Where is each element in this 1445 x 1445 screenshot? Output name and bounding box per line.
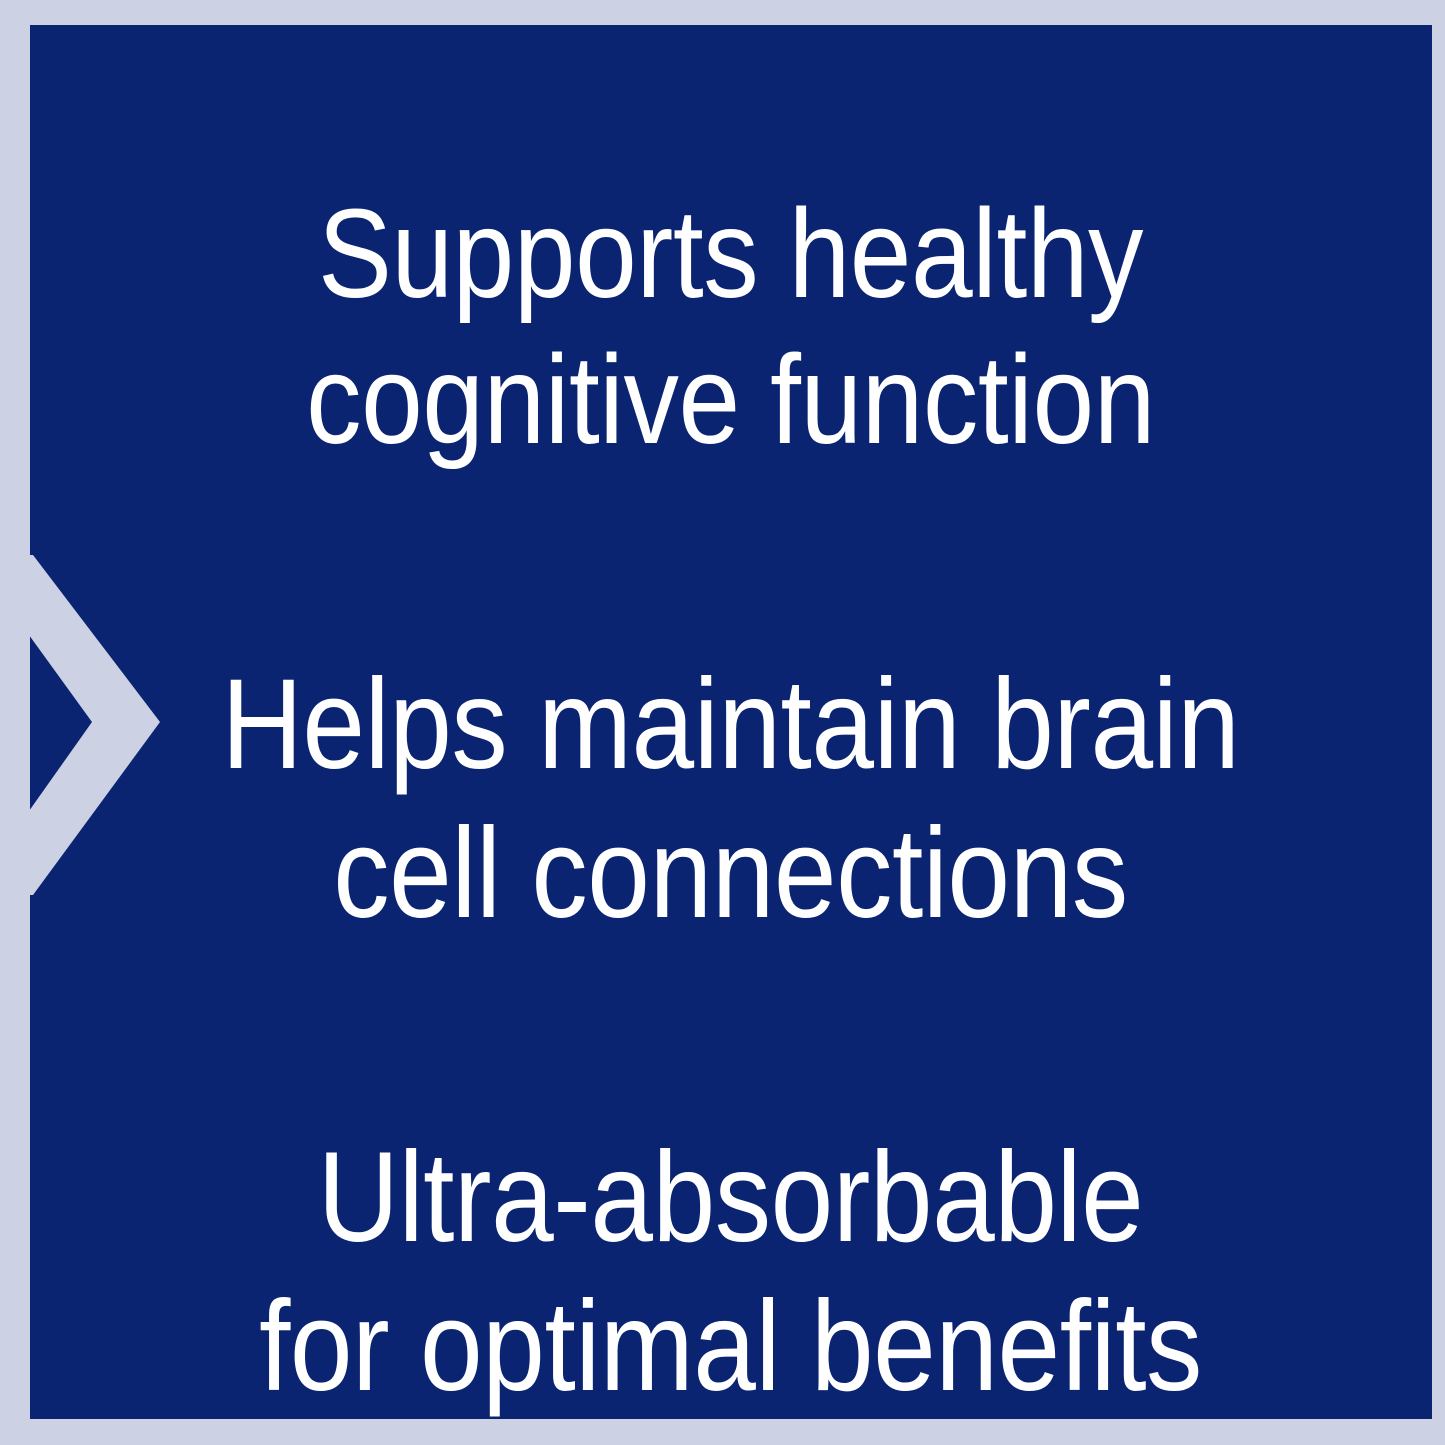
benefit-item-cognitive-function: Supports healthy cognitive function xyxy=(218,181,1243,473)
benefits-list: Supports healthy cognitive function Help… xyxy=(148,25,1313,1419)
benefit-item-ultra-absorbable: Ultra-absorbable for optimal benefits xyxy=(218,1124,1243,1421)
benefit-item-brain-cell-connections: Helps maintain brain cell connections xyxy=(218,651,1243,948)
benefits-card-stage: Supports healthy cognitive function Help… xyxy=(0,0,1445,1445)
benefits-panel: Supports healthy cognitive function Help… xyxy=(30,25,1432,1419)
